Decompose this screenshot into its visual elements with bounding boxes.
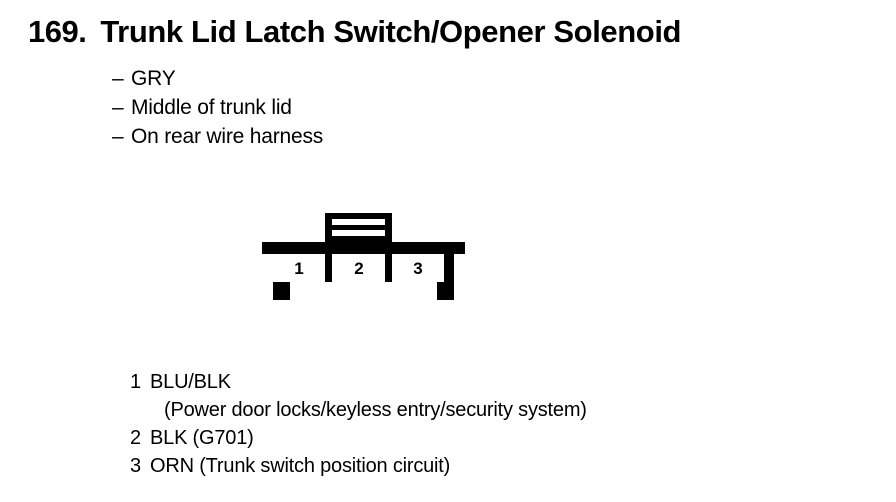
latch-slot-lower xyxy=(332,230,385,236)
pin-legend-row: 3 ORN (Trunk switch position circuit) xyxy=(130,452,830,480)
dash-bullet-icon: – xyxy=(112,122,131,151)
dash-bullet-icon: – xyxy=(112,93,131,122)
attribute-item-location: – Middle of trunk lid xyxy=(112,93,712,122)
page-title: 169. Trunk Lid Latch Switch/Opener Solen… xyxy=(28,14,681,50)
pin-legend-wire: ORN (Trunk switch position circuit) xyxy=(150,452,830,480)
pin-legend-body: BLU/BLK (Power door locks/keyless entry/… xyxy=(150,368,830,424)
pin-legend-body: BLK (G701) xyxy=(150,424,830,452)
pin-legend-wire: BLU/BLK xyxy=(150,368,830,396)
pin-legend-number: 2 xyxy=(130,424,150,452)
attribute-item-color: – GRY xyxy=(112,64,712,93)
pin-legend-row: 1 BLU/BLK (Power door locks/keyless entr… xyxy=(130,368,830,424)
connector-pin-2-label: 2 xyxy=(354,259,363,278)
connector-pin-3-label: 3 xyxy=(413,259,422,278)
page-title-number: 169. xyxy=(28,14,86,50)
pin-legend-row: 2 BLK (G701) xyxy=(130,424,830,452)
page-title-text: Trunk Lid Latch Switch/Opener Solenoid xyxy=(100,14,681,50)
latch-slot-upper xyxy=(332,219,385,225)
pin-legend-wire: BLK (G701) xyxy=(150,424,830,452)
pin-legend-number: 3 xyxy=(130,452,150,480)
attribute-list: – GRY – Middle of trunk lid – On rear wi… xyxy=(112,64,712,151)
connector-pin-1-label: 1 xyxy=(294,259,303,278)
pin-legend: 1 BLU/BLK (Power door locks/keyless entr… xyxy=(130,368,830,480)
attribute-item-harness: – On rear wire harness xyxy=(112,122,712,151)
attribute-item-label: Middle of trunk lid xyxy=(131,93,292,122)
attribute-item-label: On rear wire harness xyxy=(131,122,323,151)
attribute-item-label: GRY xyxy=(131,64,176,93)
pin-legend-description: (Power door locks/keyless entry/security… xyxy=(150,396,830,424)
pin-legend-number: 1 xyxy=(130,368,150,396)
dash-bullet-icon: – xyxy=(112,64,131,93)
connector-diagram: 1 2 3 xyxy=(252,204,476,308)
pin-legend-body: ORN (Trunk switch position circuit) xyxy=(150,452,830,480)
